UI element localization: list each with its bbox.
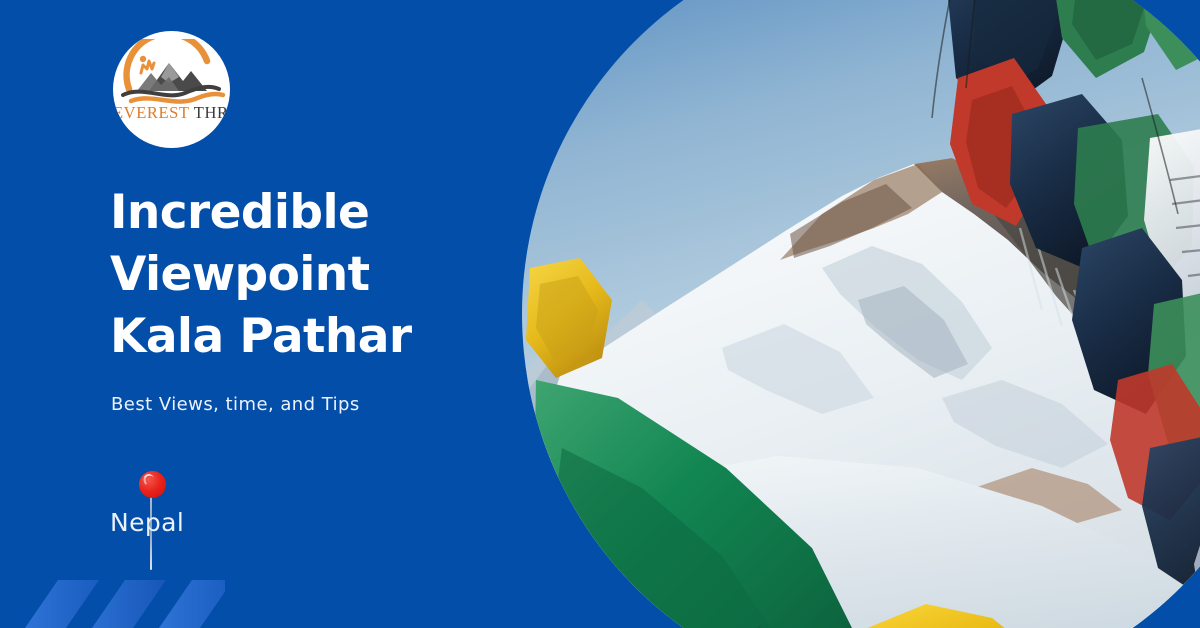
headline-line-1: Incredible — [110, 182, 540, 244]
brand-logo[interactable]: EVEREST THRILL — [113, 31, 230, 148]
brand-wordmark: EVEREST THRILL — [113, 105, 230, 122]
content-panel: EVEREST THRILL Incredible Viewpoint Kala… — [0, 0, 540, 628]
headline-line-2: Viewpoint — [110, 244, 540, 306]
brand-name-secondary: THRILL — [194, 103, 230, 122]
promo-banner: EVEREST THRILL Incredible Viewpoint Kala… — [0, 0, 1200, 628]
everest-photo-illustration — [522, 0, 1200, 628]
location-label: Nepal — [110, 508, 184, 537]
mountain-logo-icon — [113, 39, 230, 111]
headline-line-3: Kala Pathar — [110, 306, 540, 368]
brand-name-primary: EVEREST — [113, 103, 189, 122]
page-title: Incredible Viewpoint Kala Pathar — [110, 182, 540, 368]
page-subtitle: Best Views, time, and Tips — [111, 394, 360, 415]
location-badge: Nepal — [110, 462, 330, 574]
hero-photo-circle — [522, 0, 1200, 628]
